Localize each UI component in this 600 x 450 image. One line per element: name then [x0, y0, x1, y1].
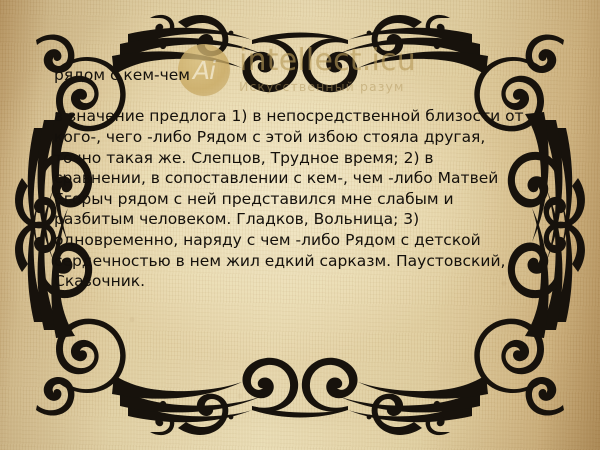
dictionary-article: рядом с кем-чем в значение предлога 1) в…: [54, 66, 548, 292]
parchment-page: Ai intellect.icu Искусственный разум ряд…: [0, 0, 600, 450]
headword: рядом с кем-чем: [54, 66, 548, 85]
definition-text: в значение предлога 1) в непосредственно…: [54, 106, 524, 291]
